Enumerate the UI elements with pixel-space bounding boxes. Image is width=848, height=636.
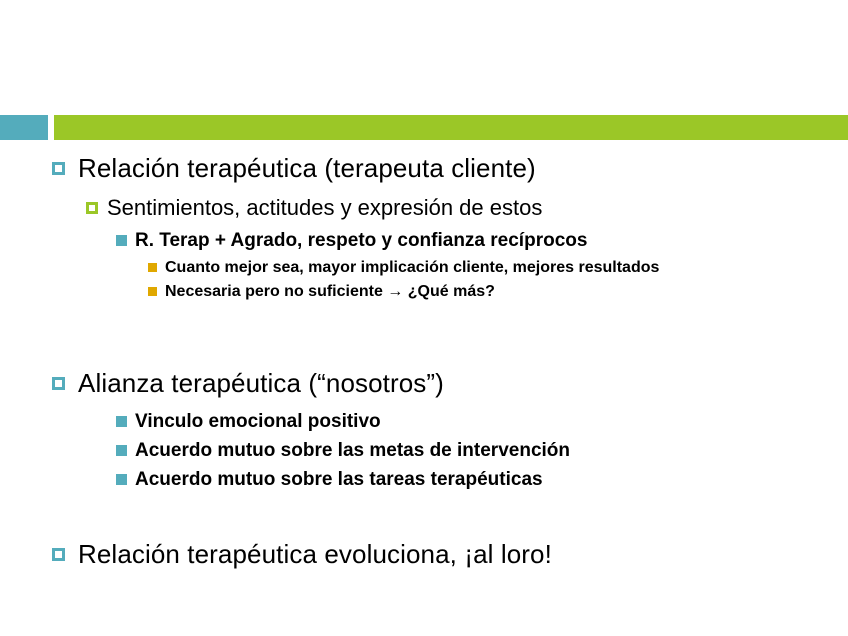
bullet-item-label: Necesaria pero no suficiente → ¿Qué más? (165, 281, 495, 302)
group-spacer (0, 305, 848, 367)
bullet-group-alianza-terapeutica: Alianza terapéutica (“nosotros”) Vinculo… (0, 367, 848, 492)
bullet-group-relacion-evoluciona: Relación terapéutica evoluciona, ¡al lor… (0, 538, 848, 571)
solid-square-teal-icon (116, 235, 127, 246)
bullet-item-label: Acuerdo mutuo sobre las metas de interve… (135, 438, 570, 463)
bullet-item-level3[interactable]: Acuerdo mutuo sobre las metas de interve… (0, 438, 848, 463)
hollow-square-teal-icon (52, 548, 65, 561)
solid-square-teal-icon (116, 445, 127, 456)
bullet-item-level1[interactable]: Alianza terapéutica (“nosotros”) (0, 367, 848, 400)
solid-square-gold-icon (148, 263, 157, 272)
bullet-item-level4[interactable]: Necesaria pero no suficiente → ¿Qué más? (0, 281, 848, 302)
bullet-item-level1[interactable]: Relación terapéutica (terapeuta cliente) (0, 152, 848, 185)
slide-content: Relación terapéutica (terapeuta cliente)… (0, 152, 848, 580)
bullet-item-label: R. Terap + Agrado, respeto y confianza r… (135, 228, 587, 253)
bullet-item-level2[interactable]: Sentimientos, actitudes y expresión de e… (0, 194, 848, 222)
bullet-item-label: Relación terapéutica evoluciona, ¡al lor… (78, 538, 552, 571)
group-spacer (0, 496, 848, 538)
bullet-item-level4[interactable]: Cuanto mejor sea, mayor implicación clie… (0, 257, 848, 278)
bullet-item-label: Alianza terapéutica (“nosotros”) (78, 367, 444, 400)
bullet-item-level3[interactable]: Acuerdo mutuo sobre las tareas terapéuti… (0, 467, 848, 492)
slide-header-band (0, 115, 848, 140)
hollow-square-green-icon (86, 202, 98, 214)
solid-square-teal-icon (116, 416, 127, 427)
hollow-square-teal-icon (52, 377, 65, 390)
bullet-item-label: Acuerdo mutuo sobre las tareas terapéuti… (135, 467, 543, 492)
bullet-item-level1[interactable]: Relación terapéutica evoluciona, ¡al lor… (0, 538, 848, 571)
bullet-item-label: Relación terapéutica (terapeuta cliente) (78, 152, 536, 185)
hollow-square-teal-icon (52, 162, 65, 175)
teal-accent-block (0, 115, 48, 140)
bullet-item-label: Vinculo emocional positivo (135, 409, 381, 434)
bullet-item-level3[interactable]: Vinculo emocional positivo (0, 409, 848, 434)
bullet-group-relacion-terapeutica: Relación terapéutica (terapeuta cliente)… (0, 152, 848, 302)
bullet-item-label: Cuanto mejor sea, mayor implicación clie… (165, 257, 659, 278)
bullet-item-label: Sentimientos, actitudes y expresión de e… (107, 194, 542, 222)
solid-square-teal-icon (116, 474, 127, 485)
solid-square-gold-icon (148, 287, 157, 296)
green-header-bar (54, 115, 848, 140)
bullet-item-level3[interactable]: R. Terap + Agrado, respeto y confianza r… (0, 228, 848, 253)
